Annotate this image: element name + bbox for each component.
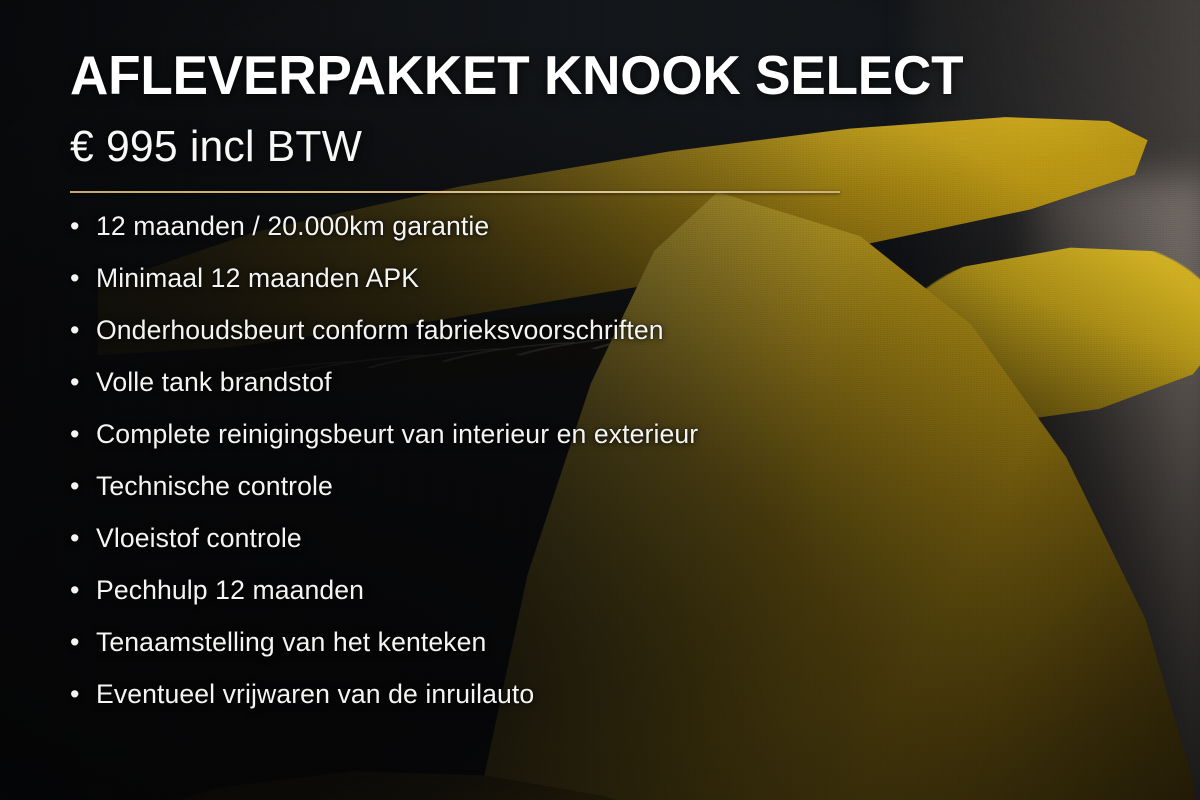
- list-item: •Vloeistof controle: [70, 523, 1200, 575]
- list-item-label: Tenaamstelling van het kenteken: [96, 627, 486, 658]
- list-item-label: Complete reinigingsbeurt van interieur e…: [96, 419, 698, 450]
- bullet-icon: •: [70, 421, 96, 448]
- list-item-label: Technische controle: [96, 471, 333, 502]
- bullet-icon: •: [70, 265, 96, 292]
- list-item: •Eventueel vrijwaren van de inruilauto: [70, 679, 1200, 731]
- list-item: •Volle tank brandstof: [70, 367, 1200, 419]
- bullet-icon: •: [70, 577, 96, 604]
- page-title: AFLEVERPAKKET KNOOK SELECT: [70, 48, 1160, 103]
- list-item: •Tenaamstelling van het kenteken: [70, 627, 1200, 679]
- bullet-icon: •: [70, 369, 96, 396]
- bullet-icon: •: [70, 213, 96, 240]
- feature-list: •12 maanden / 20.000km garantie •Minimaa…: [70, 211, 1200, 731]
- list-item: •Pechhulp 12 maanden: [70, 575, 1200, 627]
- list-item-label: Eventueel vrijwaren van de inruilauto: [96, 679, 534, 710]
- list-item-label: Pechhulp 12 maanden: [96, 575, 364, 606]
- promo-card: AFLEVERPAKKET KNOOK SELECT € 995 incl BT…: [0, 0, 1200, 800]
- list-item: •Complete reinigingsbeurt van interieur …: [70, 419, 1200, 471]
- bullet-icon: •: [70, 473, 96, 500]
- list-item-label: 12 maanden / 20.000km garantie: [96, 211, 489, 242]
- list-item: •Minimaal 12 maanden APK: [70, 263, 1200, 315]
- list-item-label: Vloeistof controle: [96, 523, 302, 554]
- card-content: AFLEVERPAKKET KNOOK SELECT € 995 incl BT…: [0, 0, 1200, 800]
- divider: [70, 191, 840, 193]
- list-item: •Onderhoudsbeurt conform fabrieksvoorsch…: [70, 315, 1200, 367]
- list-item-label: Onderhoudsbeurt conform fabrieksvoorschr…: [96, 315, 664, 346]
- bullet-icon: •: [70, 629, 96, 656]
- bullet-icon: •: [70, 317, 96, 344]
- list-item-label: Volle tank brandstof: [96, 367, 332, 398]
- list-item-label: Minimaal 12 maanden APK: [96, 263, 419, 294]
- bullet-icon: •: [70, 525, 96, 552]
- price-label: € 995 incl BTW: [70, 125, 1166, 169]
- list-item: •12 maanden / 20.000km garantie: [70, 211, 1200, 263]
- bullet-icon: •: [70, 681, 96, 708]
- list-item: •Technische controle: [70, 471, 1200, 523]
